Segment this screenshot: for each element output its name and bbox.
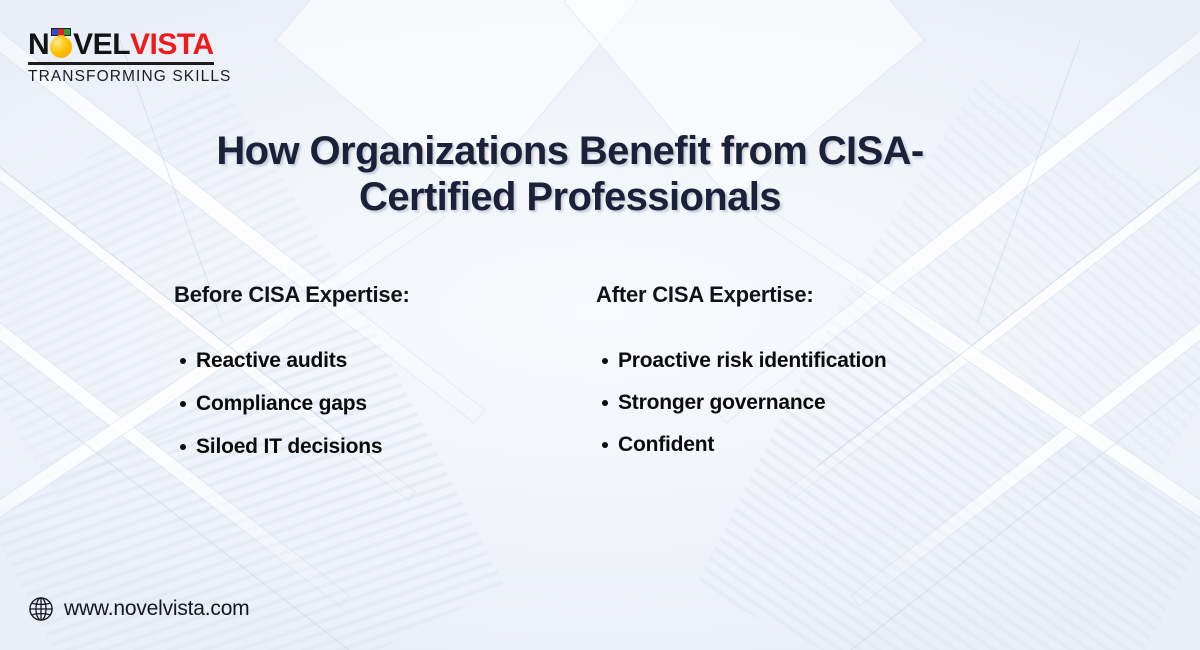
list-item: Compliance gaps: [174, 393, 574, 414]
logo-text-vista: VISTA: [130, 30, 214, 60]
brand-logo[interactable]: N VEL VISTA TRANSFORMING SKILLS: [28, 30, 214, 86]
list-item: Confident: [596, 434, 1036, 455]
list-item: Stronger governance: [596, 392, 1036, 413]
logo-text-vel: VEL: [73, 30, 130, 60]
footer[interactable]: www.novelvista.com: [28, 596, 249, 622]
bullet-list-after: Proactive risk identification Stronger g…: [596, 350, 1036, 455]
list-item: Reactive audits: [174, 350, 574, 371]
lightbulb-icon: [49, 32, 73, 58]
lightbulb-globe: [50, 36, 72, 58]
background-hairline: [977, 40, 1081, 322]
logo-text-n: N: [28, 30, 49, 60]
column-before: Before CISA Expertise: Reactive audits C…: [174, 282, 574, 479]
page-title: How Organizations Benefit from CISA-Cert…: [170, 128, 970, 221]
column-after: After CISA Expertise: Proactive risk ide…: [596, 282, 1036, 476]
slide-canvas: N VEL VISTA TRANSFORMING SKILLS How Orga…: [0, 0, 1200, 650]
bullet-list-before: Reactive audits Compliance gaps Siloed I…: [174, 350, 574, 457]
logo-tagline: TRANSFORMING SKILLS: [28, 68, 214, 86]
footer-url-text[interactable]: www.novelvista.com: [64, 597, 249, 621]
list-item: Siloed IT decisions: [174, 436, 574, 457]
list-item: Proactive risk identification: [596, 350, 1036, 371]
logo-wordmark: N VEL VISTA: [28, 30, 214, 60]
column-heading-after: After CISA Expertise:: [596, 282, 1036, 308]
logo-divider: [28, 62, 214, 65]
column-heading-before: Before CISA Expertise:: [174, 282, 574, 308]
globe-icon: [28, 596, 54, 622]
